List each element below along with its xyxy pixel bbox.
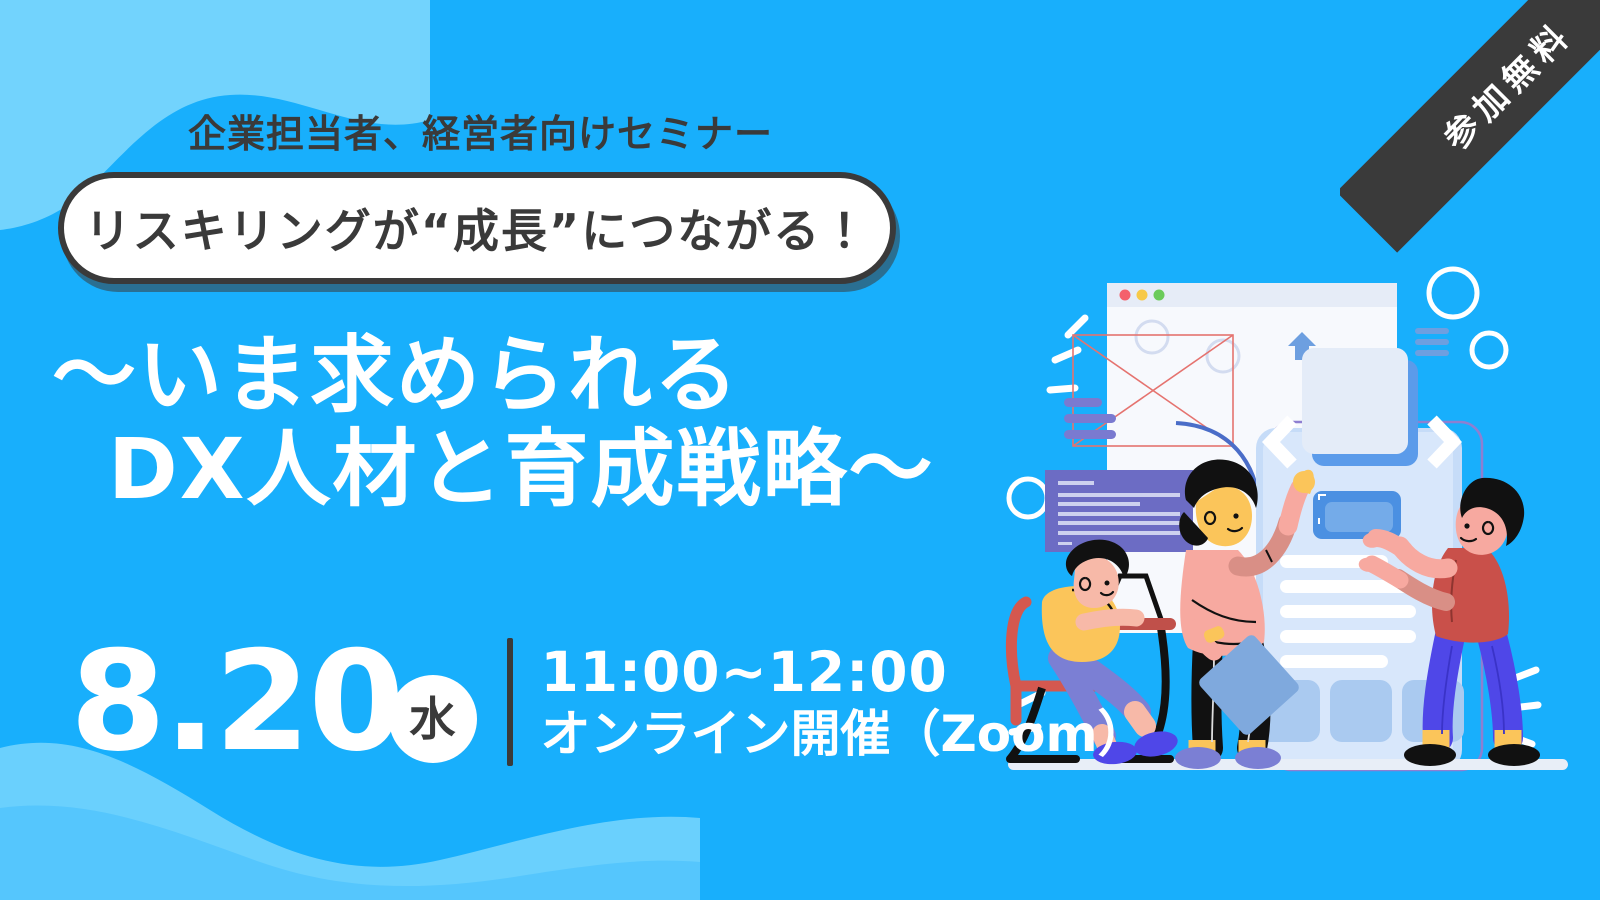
ribbon-label: 参加無料 bbox=[1407, 8, 1581, 182]
event-venue: オンライン開催（Zoom） bbox=[541, 705, 1148, 763]
weekday-label: 水 bbox=[410, 696, 456, 742]
event-time: 11:00~12:00 bbox=[541, 641, 1148, 705]
subtitle: 企業担当者、経営者向けセミナー bbox=[188, 103, 773, 158]
code-panel bbox=[1045, 470, 1193, 552]
vertical-divider bbox=[507, 638, 513, 766]
page-title: 〜いま求められる DX人材と育成戦略〜 bbox=[52, 328, 972, 516]
catch-copy-pill: リスキリングが“成長”につながる！ bbox=[58, 172, 896, 284]
hamburger-icon bbox=[1415, 328, 1449, 356]
text-column: 企業担当者、経営者向けセミナー リスキリングが“成長”につながる！ 〜いま求めら… bbox=[0, 0, 980, 900]
free-entry-ribbon: 参加無料 bbox=[1340, 0, 1600, 260]
seminar-banner: 参加無料 企業担当者、経営者向けセミナー リスキリングが“成長”につながる！ 〜… bbox=[0, 0, 1600, 900]
time-venue-block: 11:00~12:00 オンライン開催（Zoom） bbox=[541, 641, 1148, 763]
event-datetime: 8.20 水 11:00~12:00 オンライン開催（Zoom） bbox=[70, 622, 1148, 782]
catch-copy-label: リスキリングが“成長”につながる！ bbox=[85, 195, 869, 261]
weekday-badge: 水 bbox=[389, 675, 477, 763]
event-date: 8.20 bbox=[70, 633, 403, 771]
title-line-2: DX人材と育成戦略〜 bbox=[52, 422, 972, 516]
ribbon-band: 参加無料 bbox=[1340, 0, 1600, 253]
title-line-1: 〜いま求められる bbox=[52, 328, 972, 422]
